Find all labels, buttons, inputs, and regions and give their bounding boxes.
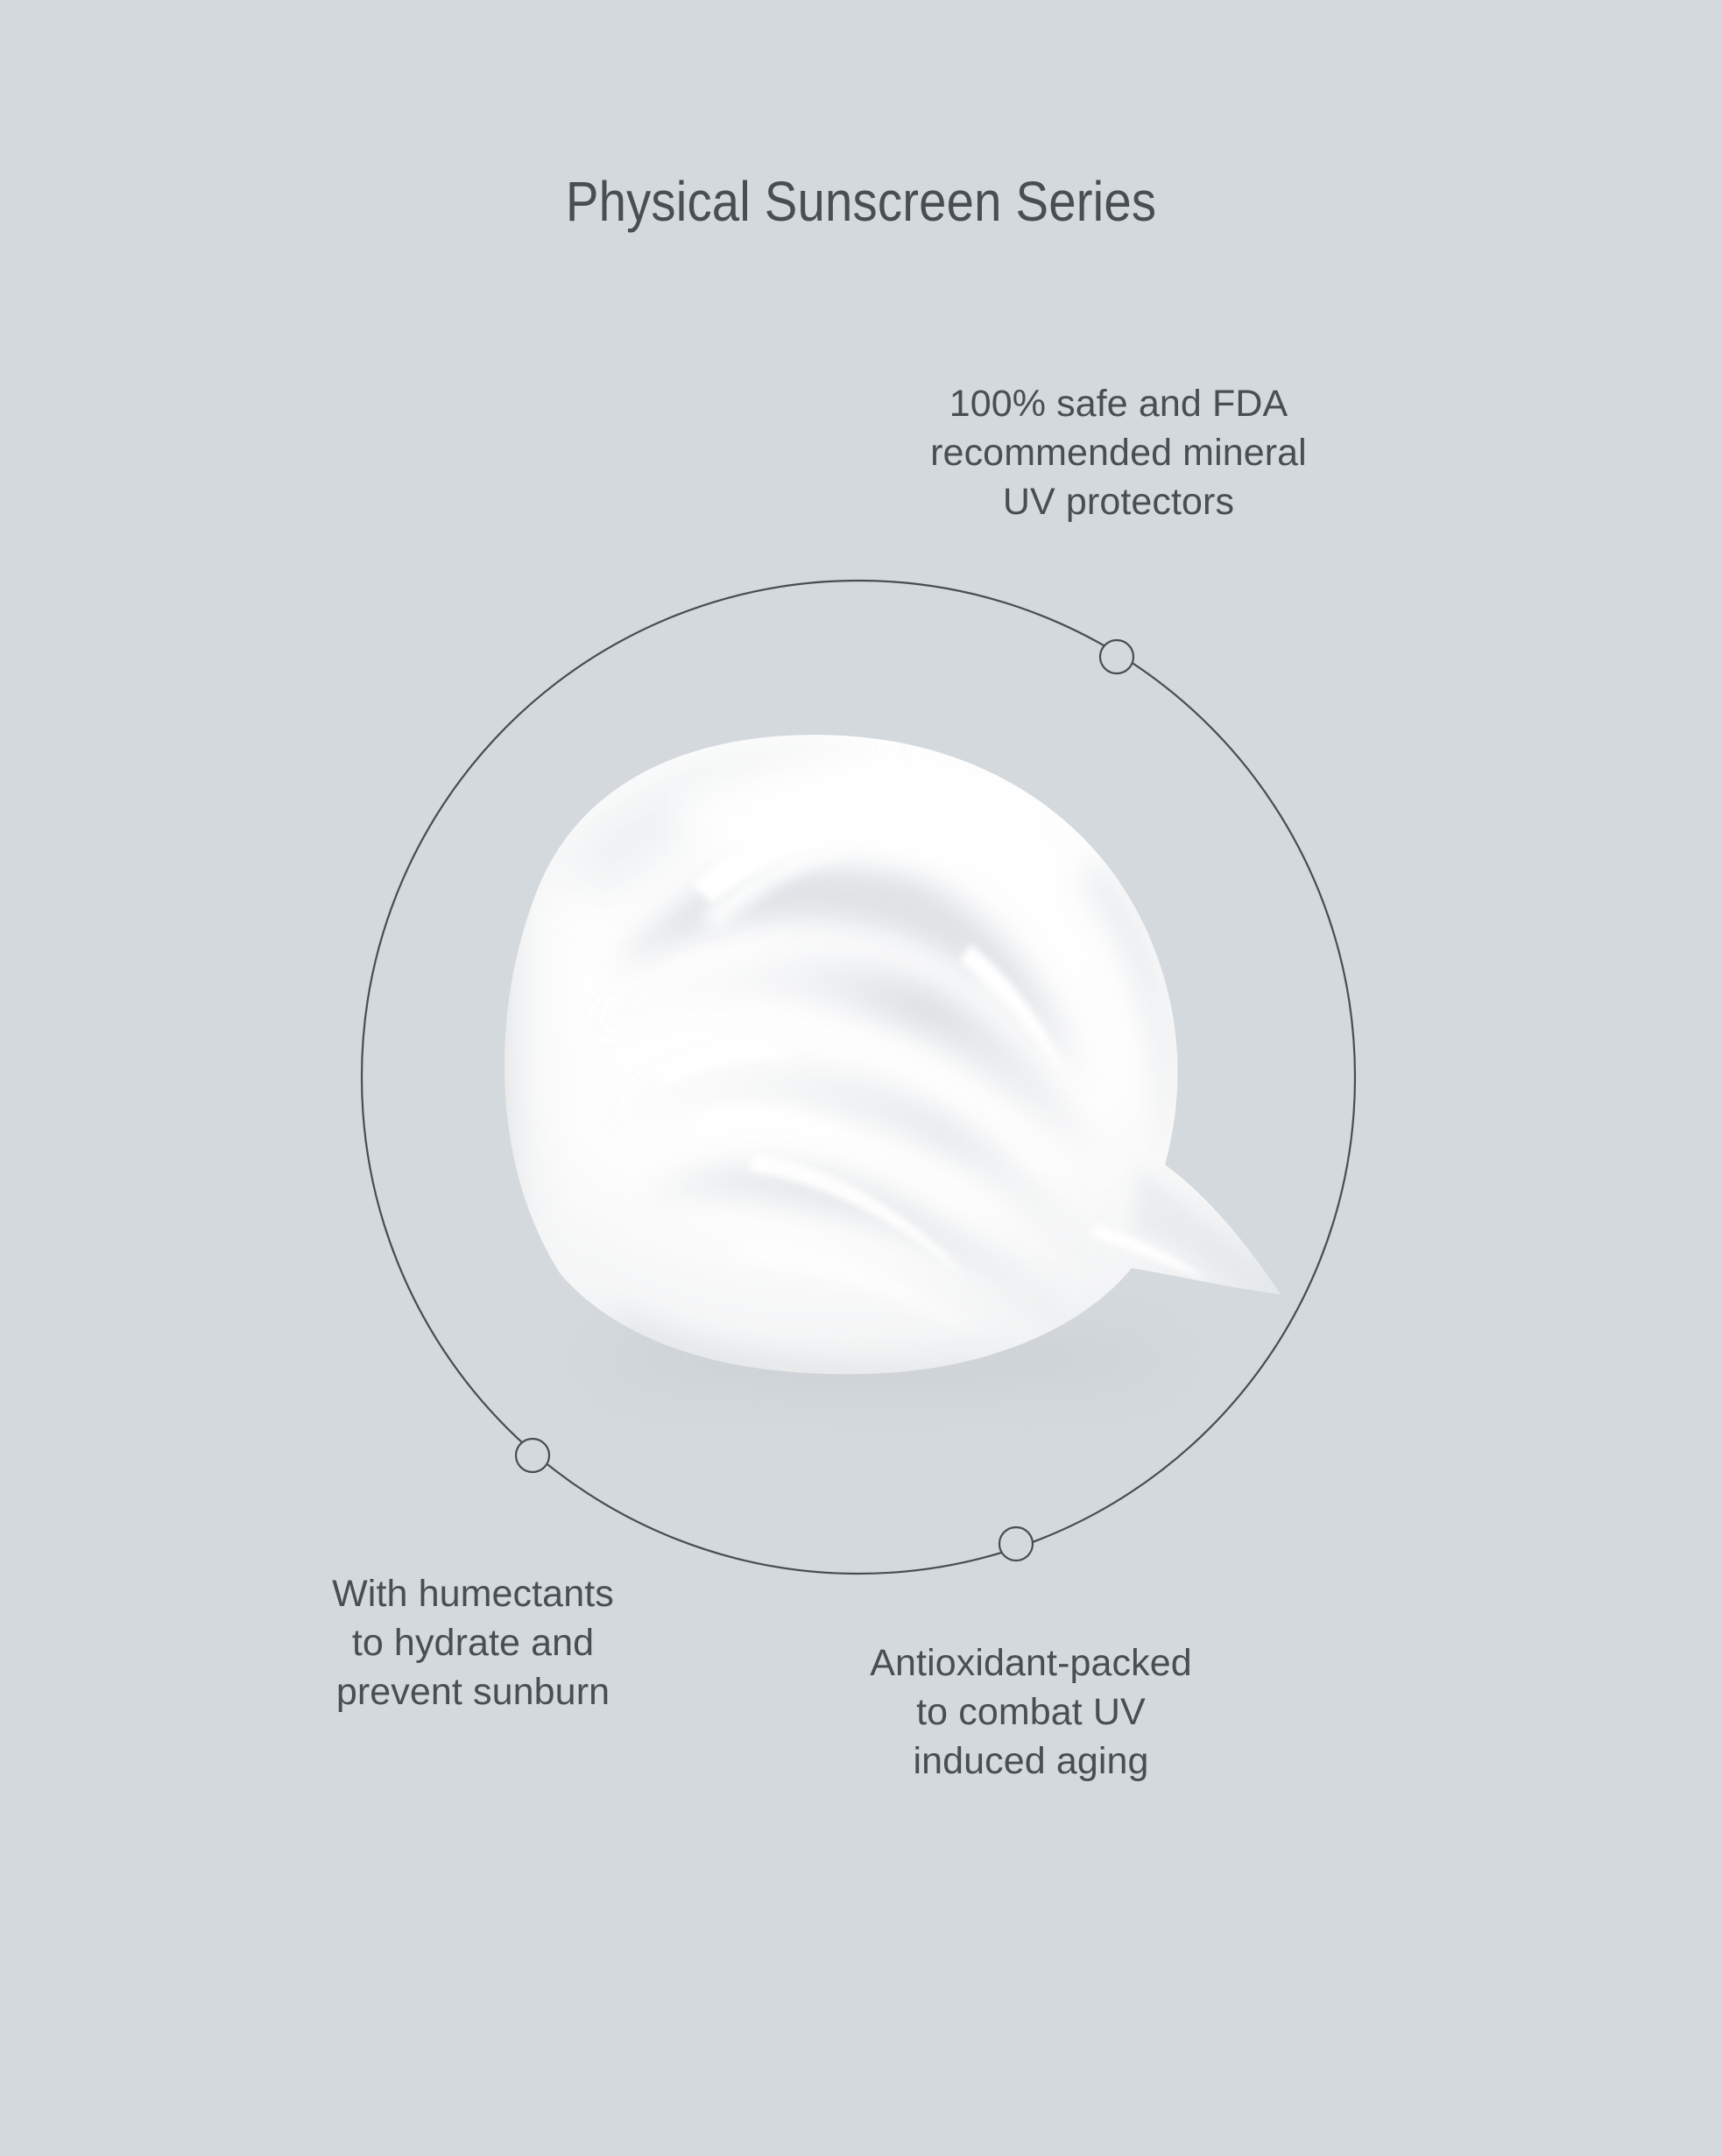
diagram-ring (362, 581, 1355, 1574)
feature-caption-antioxidant: Antioxidant-packed to combat UV induced … (799, 1639, 1263, 1786)
node-bottom-center[interactable] (999, 1527, 1033, 1561)
poster-canvas: Physical Sunscreen Series (0, 0, 1722, 2156)
caption-line: With humectants (243, 1570, 702, 1619)
caption-line: prevent sunburn (243, 1668, 702, 1717)
caption-line: recommended mineral (886, 429, 1351, 478)
node-bottom-left[interactable] (516, 1439, 549, 1472)
sunscreen-cream-dollop (490, 727, 1281, 1392)
caption-line: Antioxidant-packed (799, 1639, 1263, 1688)
caption-line: to combat UV (799, 1688, 1263, 1737)
caption-line: 100% safe and FDA (886, 380, 1351, 429)
circle-diagram (0, 0, 1722, 2156)
feature-caption-hydration: With humectants to hydrate and prevent s… (243, 1570, 702, 1717)
node-top-right[interactable] (1100, 640, 1133, 673)
feature-caption-safety: 100% safe and FDA recommended mineral UV… (886, 380, 1351, 527)
caption-line: UV protectors (886, 478, 1351, 527)
page-title: Physical Sunscreen Series (103, 172, 1619, 232)
caption-line: to hydrate and (243, 1619, 702, 1668)
caption-line: induced aging (799, 1737, 1263, 1786)
